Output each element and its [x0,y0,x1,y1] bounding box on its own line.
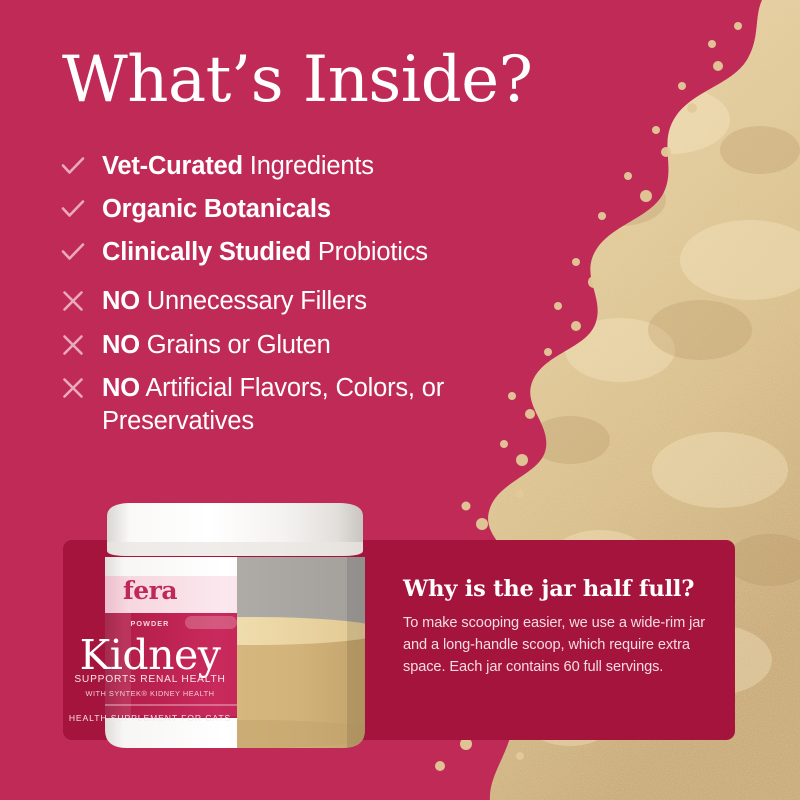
jar-subtitle-small: WITH SYNTEK® KIDNEY HEALTH [0,689,237,698]
list-item-rest: Ingredients [243,152,374,180]
jar-subtitle: SUPPORTS RENAL HEALTH [0,674,237,685]
list-item-rest: Probiotics [311,238,428,266]
jar-pill-badge-shape [185,616,237,629]
jar-product-name: Kidney [0,631,237,679]
jar-footer-text: HEALTH SUPPLEMENT FOR CATS [0,713,237,723]
info-card-body: To make scooping easier, we use a wide-r… [403,613,708,679]
info-card-title: Why is the jar half full? [403,576,708,602]
jar-brand-name: fera [0,576,237,605]
info-card-content: Why is the jar half full? To make scoopi… [403,576,708,679]
promo-image-root: What’s Inside? Vet-Curated Ingredients O… [0,0,800,800]
jar-label-text-group: fera POWDER Kidney SUPPORTS RENAL HEALTH… [0,0,237,800]
